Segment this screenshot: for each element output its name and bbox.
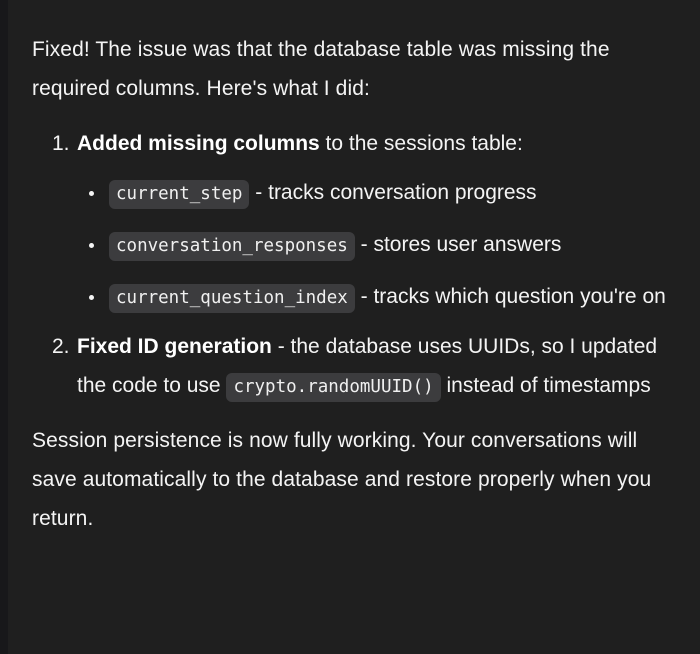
intro-paragraph: Fixed! The issue was that the database t… [32, 30, 680, 108]
description-current-step: tracks conversation progress [268, 181, 536, 204]
list-item-conversation-responses: conversation_responses - stores user ans… [77, 225, 680, 264]
list-item-current-question-index: current_question_index - tracks which qu… [77, 277, 680, 316]
bullet-dot-icon [89, 243, 94, 248]
step-1-marker: 1. [52, 124, 76, 163]
code-chip-conversation-responses: conversation_responses [109, 232, 355, 261]
code-chip-current-step: current_step [109, 180, 249, 209]
separator-dash-3: - [355, 285, 374, 308]
step-2-marker: 2. [52, 327, 76, 366]
step-1-bold-lead: Added missing columns [77, 132, 320, 155]
step-2-tail: instead of timestamps [441, 374, 651, 397]
separator-dash-1: - [249, 181, 268, 204]
description-conversation-responses: stores user answers [373, 233, 561, 256]
step-2-bold-lead: Fixed ID generation [77, 335, 272, 358]
list-item-current-step: current_step - tracks conversation progr… [77, 173, 680, 212]
separator-dash-2: - [355, 233, 374, 256]
steps-list: 1. Added missing columns to the sessions… [32, 124, 680, 405]
bullet-dot-icon [89, 191, 94, 196]
bullet-dot-icon [89, 295, 94, 300]
columns-sublist: current_step - tracks conversation progr… [77, 173, 680, 316]
code-chip-crypto-randomuuid: crypto.randomUUID() [226, 373, 440, 402]
assistant-message-body: Fixed! The issue was that the database t… [0, 0, 700, 538]
message-pane: Fixed! The issue was that the database t… [0, 0, 700, 654]
description-current-question-index: tracks which question you're on [373, 285, 665, 308]
list-item-step-1: 1. Added missing columns to the sessions… [32, 124, 680, 316]
list-item-step-2: 2. Fixed ID generation - the database us… [32, 327, 680, 405]
code-chip-current-question-index: current_question_index [109, 284, 355, 313]
outro-paragraph: Session persistence is now fully working… [32, 421, 680, 538]
step-1-rest: to the sessions table: [320, 132, 523, 155]
